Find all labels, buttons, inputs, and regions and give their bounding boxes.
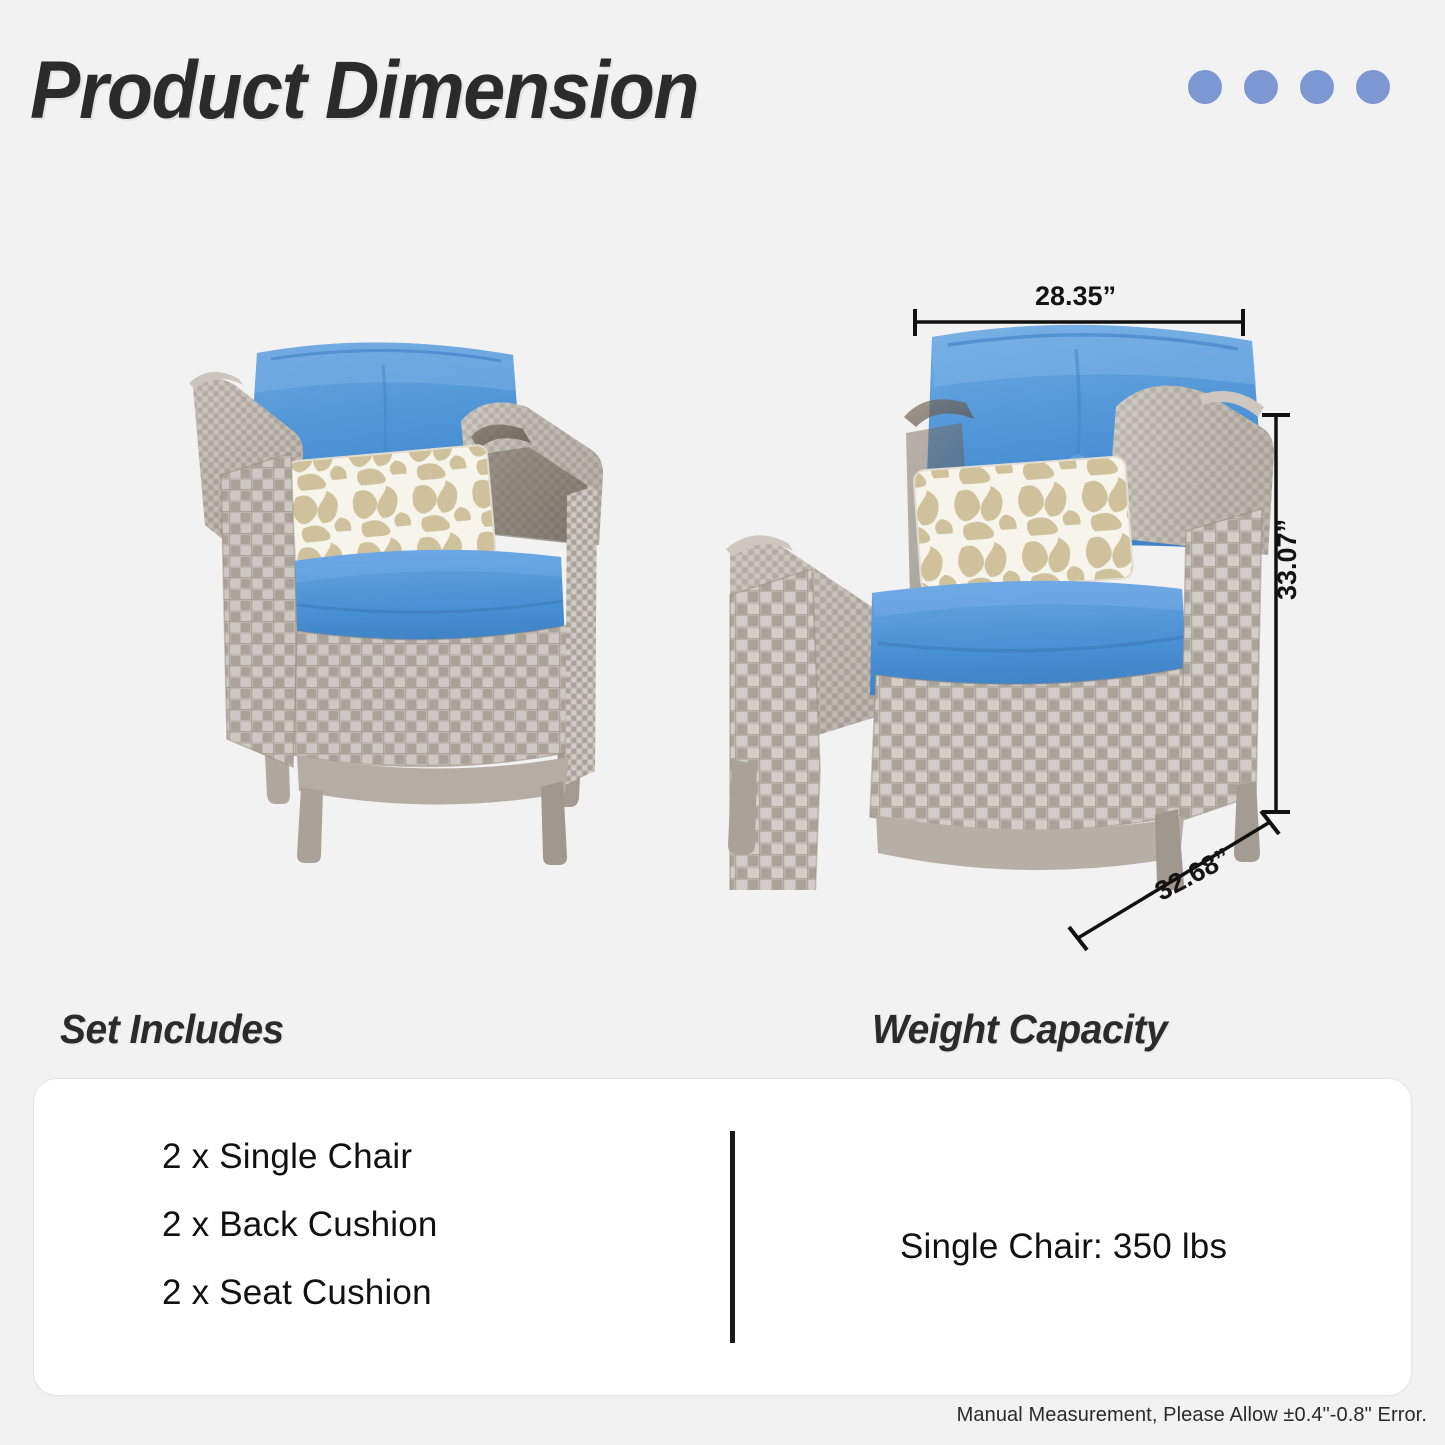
decorative-dots [1188, 70, 1390, 104]
dot-icon [1188, 70, 1222, 104]
chair-image-right [700, 315, 1280, 890]
list-item: 2 x Back Cushion [162, 1205, 438, 1245]
weight-capacity-value: Single Chair: 350 lbs [900, 1227, 1227, 1267]
page-title: Product Dimension [30, 44, 698, 138]
vertical-divider [730, 1131, 735, 1343]
dot-icon [1356, 70, 1390, 104]
dot-icon [1300, 70, 1334, 104]
product-images [0, 300, 1445, 990]
info-card: 2 x Single Chair 2 x Back Cushion 2 x Se… [33, 1078, 1412, 1396]
list-item: 2 x Seat Cushion [162, 1273, 438, 1313]
set-includes-list: 2 x Single Chair 2 x Back Cushion 2 x Se… [162, 1137, 438, 1313]
chair-image-left [175, 325, 655, 885]
dot-icon [1244, 70, 1278, 104]
set-includes-heading: Set Includes [60, 1006, 284, 1053]
measurement-disclaimer: Manual Measurement, Please Allow ±0.4"-0… [957, 1404, 1427, 1427]
list-item: 2 x Single Chair [162, 1137, 438, 1177]
weight-capacity-heading: Weight Capacity [872, 1006, 1167, 1053]
